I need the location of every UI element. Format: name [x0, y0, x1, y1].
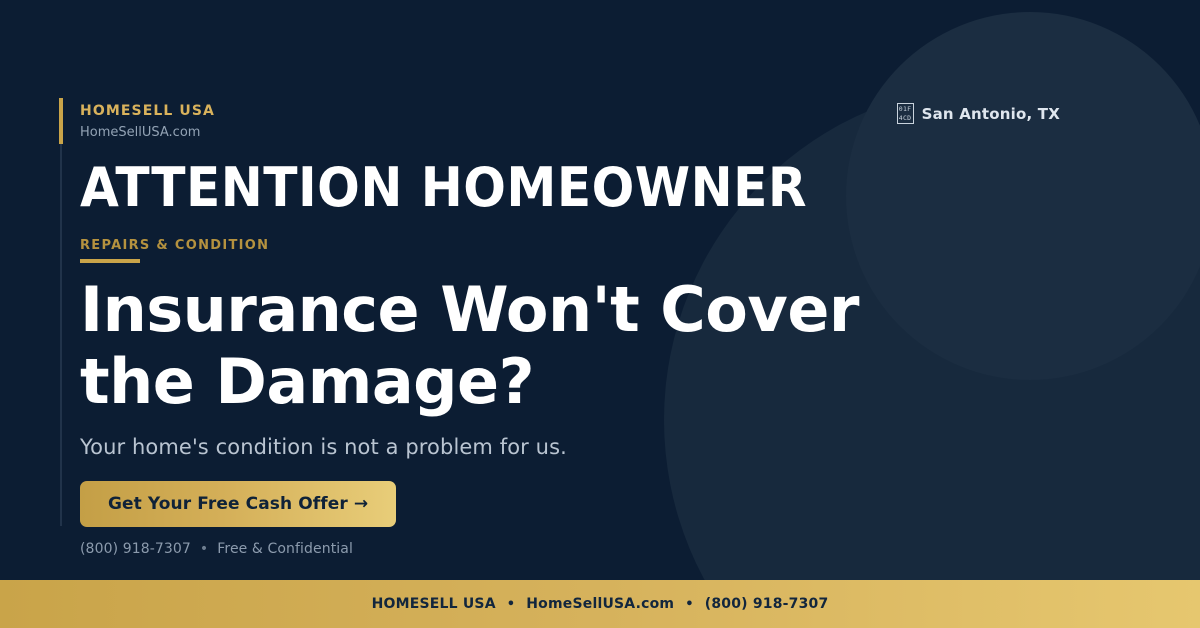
footer-bar: HOMESELL USA • HomeSellUSA.com • (800) 9… [0, 580, 1200, 628]
contact-separator: • [200, 541, 208, 557]
brand-block: HOMESELL USA HomeSellUSA.com [80, 104, 215, 141]
footer-separator-1: • [507, 597, 516, 612]
contact-note: Free & Confidential [217, 541, 353, 557]
eyebrow-underline [80, 259, 140, 263]
contact-line: (800) 918-7307 • Free & Confidential [80, 541, 353, 557]
footer-phone[interactable]: (800) 918-7307 [705, 596, 829, 612]
attention-kicker: ATTENTION HOMEOWNER [80, 160, 807, 217]
get-free-cash-offer-button[interactable]: Get Your Free Cash Offer → [80, 481, 396, 527]
footer-url[interactable]: HomeSellUSA.com [526, 596, 674, 612]
location-pin-icon: 01F 4CD [897, 103, 914, 124]
footer-separator-2: • [685, 597, 694, 612]
left-accent-bar [59, 98, 63, 144]
brand-url: HomeSellUSA.com [80, 126, 215, 140]
location-pin-icon-hex-top: 01F [899, 105, 912, 114]
left-vertical-rule [60, 98, 62, 526]
contact-phone[interactable]: (800) 918-7307 [80, 541, 191, 557]
location-label: San Antonio, TX [922, 105, 1060, 123]
footer-brand: HOMESELL USA [372, 596, 496, 612]
brand-name: HOMESELL USA [80, 104, 215, 119]
page-title: Insurance Won't Cover the Damage? [80, 274, 960, 418]
location-badge: 01F 4CD San Antonio, TX [897, 103, 1060, 124]
footer-content: HOMESELL USA • HomeSellUSA.com • (800) 9… [372, 596, 829, 612]
eyebrow-label: REPAIRS & CONDITION [80, 238, 269, 253]
subtitle: Your home's condition is not a problem f… [80, 435, 567, 459]
content-area: HOMESELL USA HomeSellUSA.com 01F 4CD San… [80, 0, 1120, 628]
ad-banner: HOMESELL USA HomeSellUSA.com 01F 4CD San… [0, 0, 1200, 628]
location-pin-icon-hex-bottom: 4CD [899, 114, 912, 123]
